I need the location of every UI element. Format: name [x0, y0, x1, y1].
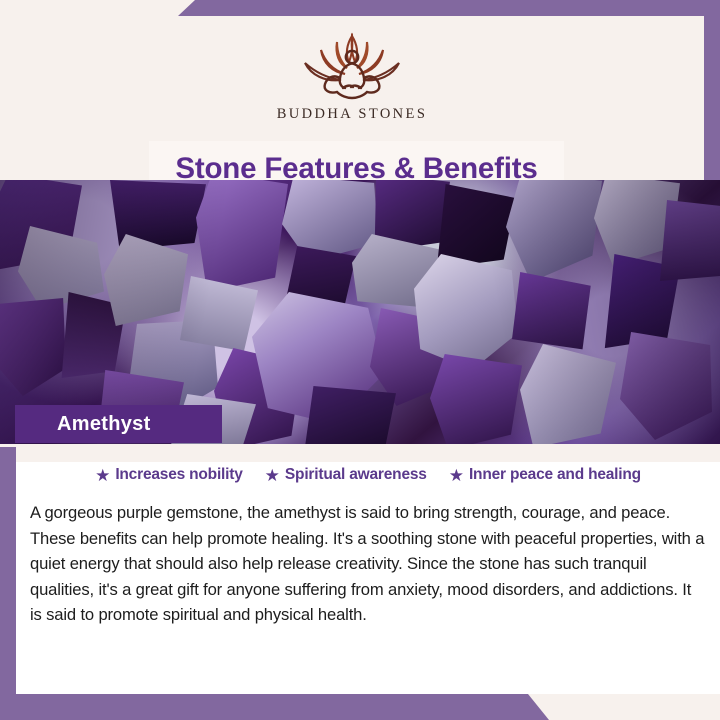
stone-name: Amethyst	[57, 413, 151, 436]
frame-top-accent	[0, 0, 720, 16]
benefit-label: Spiritual awareness	[285, 466, 427, 484]
crystal-facet	[300, 386, 396, 444]
stone-description: A gorgeous purple gemstone, the amethyst…	[30, 500, 706, 628]
stone-info-card: BUDDHA STONES Stone Features & Benefits	[0, 0, 720, 720]
crystal-facet	[430, 354, 522, 444]
stone-details-panel: ★ Increases nobility ★ Spiritual awarene…	[16, 444, 720, 694]
benefit-label: Increases nobility	[115, 466, 242, 484]
benefit-item: ★ Increases nobility	[95, 466, 243, 484]
star-icon: ★	[265, 467, 280, 484]
brand-logo: BUDDHA STONES	[0, 30, 704, 123]
panel-top-strip	[16, 444, 720, 462]
benefit-item: ★ Inner peace and healing	[449, 466, 641, 484]
lotus-meditation-icon	[277, 30, 427, 102]
star-icon: ★	[449, 467, 464, 484]
brand-name: BUDDHA STONES	[277, 106, 428, 123]
crystal-facet	[196, 180, 288, 292]
crystal-facet	[660, 200, 720, 288]
frame-bottom-accent	[0, 694, 720, 720]
benefits-list: ★ Increases nobility ★ Spiritual awarene…	[16, 466, 720, 484]
frame-left-accent	[0, 447, 16, 720]
benefit-label: Inner peace and healing	[469, 466, 641, 484]
stone-name-band: Amethyst	[15, 405, 222, 443]
star-icon: ★	[95, 467, 110, 484]
card-header: BUDDHA STONES Stone Features & Benefits	[0, 16, 704, 180]
benefit-item: ★ Spiritual awareness	[265, 466, 427, 484]
